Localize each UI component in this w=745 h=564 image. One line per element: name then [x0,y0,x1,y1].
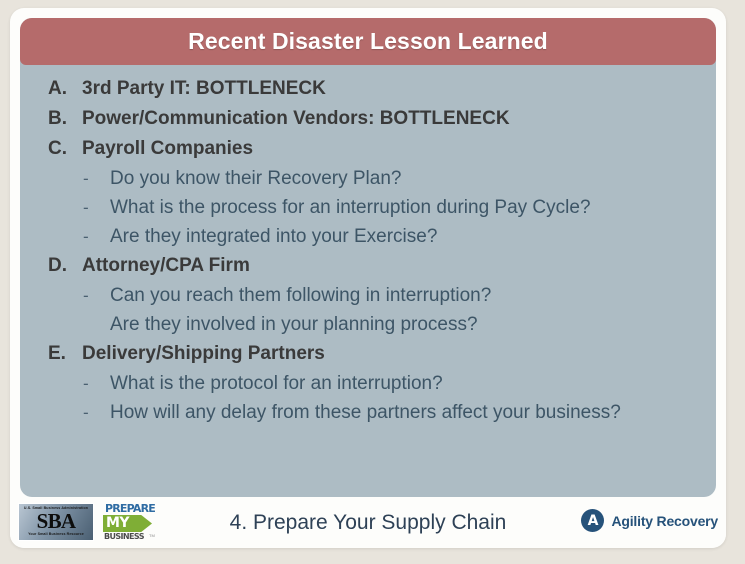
list-item-marker: - [83,374,110,394]
list-item-marker: C. [48,138,82,160]
list-item-label: Are they integrated into your Exercise? [110,226,437,248]
agility-wordmark: Agility Recovery [611,513,718,529]
prepare-my-business-trademark: TM [149,534,155,538]
slide-title-bar: Recent Disaster Lesson Learned [20,18,716,65]
slide-content-panel: Recent Disaster Lesson Learned A.3rd Par… [20,18,716,497]
list-item-marker: - [83,403,110,423]
sba-logo-bottom-text: Your Small Business Resource [28,533,84,537]
list-item-marker: E. [48,343,82,365]
list-item-label: 3rd Party IT: BOTTLENECK [82,78,326,100]
list-item-sub: -What is the process for an interruption… [20,197,716,219]
list-item-sub: -How will any delay from these partners … [20,402,716,424]
list-item-marker: - [83,227,110,247]
list-item-marker: A. [48,78,82,100]
agility-recovery-logo: A Agility Recovery [581,509,718,532]
prepare-my-business-logo: PREPARE MY BUSINESS TM [103,501,161,543]
list-item-sub: -Can you reach them following in interru… [20,285,716,307]
agility-badge-icon: A [581,509,604,532]
list-item-marker: - [83,198,110,218]
list-item-sub: -Do you know their Recovery Plan? [20,168,716,190]
prepare-my-business-line2: MY [106,515,129,532]
list-item-lettered: B.Power/Communication Vendors: BOTTLENEC… [20,108,716,130]
list-item-lettered: A.3rd Party IT: BOTTLENECK [20,78,716,100]
sba-logo: U.S. Small Business Administration SBA Y… [18,503,94,541]
list-item-marker: D. [48,255,82,277]
list-item-sub: Are they involved in your planning proce… [20,314,716,336]
list-item-label: Do you know their Recovery Plan? [110,168,401,190]
slide-card: Recent Disaster Lesson Learned A.3rd Par… [10,8,726,548]
slide-body-list: A.3rd Party IT: BOTTLENECKB.Power/Commun… [20,65,716,431]
list-item-label: What is the process for an interruption … [110,197,591,219]
list-item-label: How will any delay from these partners a… [110,402,621,424]
list-item-marker: - [83,169,110,189]
list-item-label: Payroll Companies [82,138,253,160]
footer-section-title: 4. Prepare Your Supply Chain [230,511,507,535]
list-item-lettered: E.Delivery/Shipping Partners [20,343,716,365]
agility-badge-letter: A [588,514,599,528]
sba-logo-main-text: SBA [37,511,76,532]
list-item-label: Can you reach them following in interrup… [110,285,491,307]
list-item-label: Power/Communication Vendors: BOTTLENECK [82,108,510,130]
list-item-lettered: D.Attorney/CPA Firm [20,255,716,277]
list-item-sub: -Are they integrated into your Exercise? [20,226,716,248]
list-item-label: What is the protocol for an interruption… [110,373,443,395]
prepare-my-business-line1: PREPARE [105,503,155,514]
list-item-label: Delivery/Shipping Partners [82,343,325,365]
list-item-label: Attorney/CPA Firm [82,255,250,277]
slide-outer-background: Recent Disaster Lesson Learned A.3rd Par… [0,0,745,564]
list-item-marker: B. [48,108,82,130]
list-item-label: Are they involved in your planning proce… [110,314,478,336]
prepare-my-business-line3: BUSINESS [104,533,144,541]
list-item-sub: -What is the protocol for an interruptio… [20,373,716,395]
list-item-marker: - [83,286,110,306]
list-item-lettered: C.Payroll Companies [20,138,716,160]
slide-title: Recent Disaster Lesson Learned [188,28,548,55]
slide-footer: U.S. Small Business Administration SBA Y… [10,497,726,548]
